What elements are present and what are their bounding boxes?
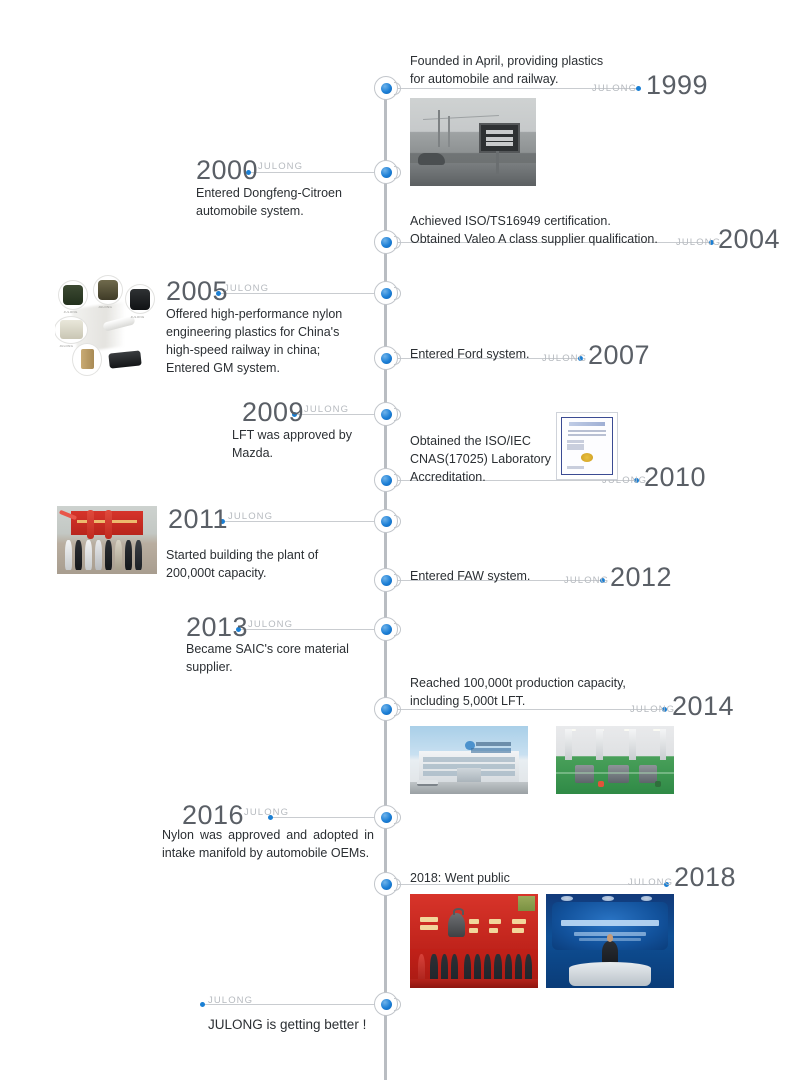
production-floor-photo <box>556 726 674 794</box>
collage-item <box>63 285 83 305</box>
event-brand-closing: JULONG <box>208 996 253 1006</box>
ipo-bell-icon <box>448 913 465 937</box>
node-tab-icon <box>394 998 401 1011</box>
event-description-2000: Entered Dongfeng-Citroen automobile syst… <box>196 184 426 220</box>
collage-item <box>130 289 150 309</box>
collage-label-3: JULONG <box>131 315 145 319</box>
collage-label-4: JULONG <box>59 344 73 348</box>
node-tab-icon <box>394 82 401 95</box>
node-tab-icon <box>394 166 401 179</box>
ceiling-lamp <box>641 896 653 901</box>
event-description-2016: Nylon was approved and adopted in intake… <box>162 826 374 862</box>
event-year-2009: 2009 <box>242 399 304 426</box>
cnas-certificate-photo <box>556 412 618 480</box>
event-brand-2011: JULONG <box>228 512 273 522</box>
ceremony-pillar <box>105 510 112 539</box>
production-machine <box>608 765 629 783</box>
timeline-node-2010[interactable] <box>374 468 398 492</box>
production-machine <box>639 765 658 783</box>
ceremony-person <box>125 540 132 570</box>
screen-corner <box>518 896 536 911</box>
timeline-node-2018[interactable] <box>374 872 398 896</box>
ceremony-person <box>75 540 82 570</box>
ceremony-person <box>65 540 72 570</box>
event-description-2010: Obtained the ISO/IEC CNAS(17025) Laborat… <box>410 432 570 486</box>
node-tab-icon <box>394 408 401 421</box>
road-signboard-photo <box>410 98 536 186</box>
event-description-2005: Offered high-performance nylon engineeri… <box>166 305 376 378</box>
event-brand-2007: JULONG <box>542 354 587 364</box>
ceiling-lamp <box>602 896 614 901</box>
event-description-2009: LFT was approved by Mazda. <box>232 426 432 462</box>
screen-text <box>469 928 478 933</box>
screen-text <box>420 925 438 930</box>
collage-circle-3 <box>126 285 154 313</box>
node-tab-icon <box>394 515 401 528</box>
certificate-text-block <box>567 466 584 469</box>
event-year-2014: 2014 <box>672 693 734 720</box>
ipo-bell-ceremony-photo <box>410 894 538 988</box>
factory-sign-text <box>476 742 511 746</box>
collage-circle-5 <box>73 344 101 375</box>
node-tab-icon <box>394 474 401 487</box>
event-brand-2012: JULONG <box>564 576 609 586</box>
photo-tower <box>438 110 440 147</box>
timeline-infographic: Founded in April, providing plastics for… <box>0 0 800 1080</box>
certificate-text-block <box>567 447 584 450</box>
photo-ground <box>410 163 536 186</box>
photo-pole <box>496 151 499 174</box>
ipo-online-ceremony-photo <box>546 894 674 988</box>
event-brand-2000: JULONG <box>258 162 303 172</box>
production-machine <box>575 765 594 783</box>
ceremony-pillar <box>87 510 94 539</box>
timeline-node-2009[interactable] <box>374 402 398 426</box>
timeline-node-2011[interactable] <box>374 509 398 533</box>
event-description-2004: Achieved ISO/TS16949 certification. Obta… <box>410 212 710 248</box>
event-brand-2013: JULONG <box>248 620 293 630</box>
certificate-seal <box>581 453 593 462</box>
node-tab-icon <box>394 236 401 249</box>
collage-circle-2 <box>94 276 122 304</box>
factory-gate <box>457 768 481 782</box>
photo-tower-2 <box>448 116 450 148</box>
ceremony-person <box>105 540 112 570</box>
floor-column <box>629 729 635 760</box>
collage-label-1: JULONG <box>64 310 78 314</box>
floor-bin <box>598 781 604 787</box>
certificate-border <box>561 417 613 475</box>
floor-column <box>660 729 666 760</box>
timeline-node-1999[interactable] <box>374 76 398 100</box>
factory-sign-text-2 <box>471 748 511 753</box>
event-year-2016: 2016 <box>182 802 244 829</box>
collage-label-2: JULONG <box>98 305 112 309</box>
node-tab-icon <box>394 574 401 587</box>
node-tab-icon <box>394 352 401 365</box>
timeline-node-2000[interactable] <box>374 160 398 184</box>
collage-item <box>81 349 94 369</box>
floor-column <box>565 729 571 760</box>
screen-text <box>469 919 479 924</box>
event-brand-2016: JULONG <box>244 808 289 818</box>
node-tab-icon <box>394 623 401 636</box>
event-year-2018: 2018 <box>674 864 736 891</box>
ceremony-person <box>95 540 102 570</box>
event-description-2013: Became SAIC's core material supplier. <box>186 640 416 676</box>
node-tab-icon <box>394 811 401 824</box>
factory-bus <box>417 780 438 786</box>
node-tab-icon <box>394 878 401 891</box>
certificate-line <box>568 430 606 432</box>
event-year-2005: 2005 <box>166 278 228 305</box>
certificate-line <box>568 434 606 436</box>
ceremony-person <box>115 540 122 570</box>
event-brand-2018: JULONG <box>628 878 673 888</box>
collage-item <box>98 280 118 300</box>
ceremony-person <box>85 540 92 570</box>
screen-headline <box>561 920 658 926</box>
node-tab-icon <box>394 703 401 716</box>
event-description-1999: Founded in April, providing plastics for… <box>410 52 680 88</box>
collage-circle-4 <box>55 317 87 343</box>
timeline-node-closing[interactable] <box>374 992 398 1016</box>
timeline-node-2012[interactable] <box>374 568 398 592</box>
ceremony-floor <box>410 979 538 988</box>
floor-bin <box>655 781 661 787</box>
event-brand-2014: JULONG <box>630 705 675 715</box>
timeline-node-2004[interactable] <box>374 230 398 254</box>
event-year-2011: 2011 <box>168 506 228 533</box>
event-description-closing: JULONG is getting better ! <box>208 1015 438 1035</box>
node-tab-icon <box>394 287 401 300</box>
collage-circle-1 <box>59 281 87 309</box>
certificate-header <box>569 422 605 426</box>
screen-text <box>420 917 438 922</box>
screen-text <box>512 928 524 933</box>
event-year-1999: 1999 <box>646 72 708 99</box>
event-year-2000: 2000 <box>196 157 258 184</box>
screen-text <box>489 928 498 933</box>
timeline-node-2016[interactable] <box>374 805 398 829</box>
screen-text <box>489 919 501 924</box>
groundbreaking-ceremony-photo <box>57 506 157 574</box>
timeline-node-2007[interactable] <box>374 346 398 370</box>
ceiling-lamp <box>561 896 573 901</box>
floor-column <box>596 729 602 760</box>
event-description-2011: Started building the plant of 200,000t c… <box>166 546 386 582</box>
event-year-2004: 2004 <box>718 226 780 253</box>
event-brand-2004: JULONG <box>676 238 721 248</box>
floor-line <box>556 772 674 774</box>
event-year-2010: 2010 <box>644 464 706 491</box>
timeline-node-2013[interactable] <box>374 617 398 641</box>
timeline-node-2005[interactable] <box>374 281 398 305</box>
event-year-2013: 2013 <box>186 614 248 641</box>
connector-dot-closing <box>200 1002 205 1007</box>
timeline-node-2014[interactable] <box>374 697 398 721</box>
event-brand-2005: JULONG <box>224 284 269 294</box>
nylon-products-collage-photo: JULONG JULONG JULONG JULONG <box>55 275 163 379</box>
event-year-2012: 2012 <box>610 564 672 591</box>
event-brand-1999: JULONG <box>592 84 637 94</box>
screen-text <box>512 919 526 924</box>
ceremony-person <box>135 540 142 570</box>
factory-exterior-photo <box>410 726 528 794</box>
photo-signboard <box>479 123 519 153</box>
event-brand-2009: JULONG <box>304 405 349 415</box>
collage-black-part <box>108 350 142 368</box>
photo-car <box>418 153 446 164</box>
stage-desk <box>569 962 651 986</box>
event-year-2007: 2007 <box>588 342 650 369</box>
collage-item <box>60 320 83 339</box>
photo-wire <box>423 115 499 120</box>
